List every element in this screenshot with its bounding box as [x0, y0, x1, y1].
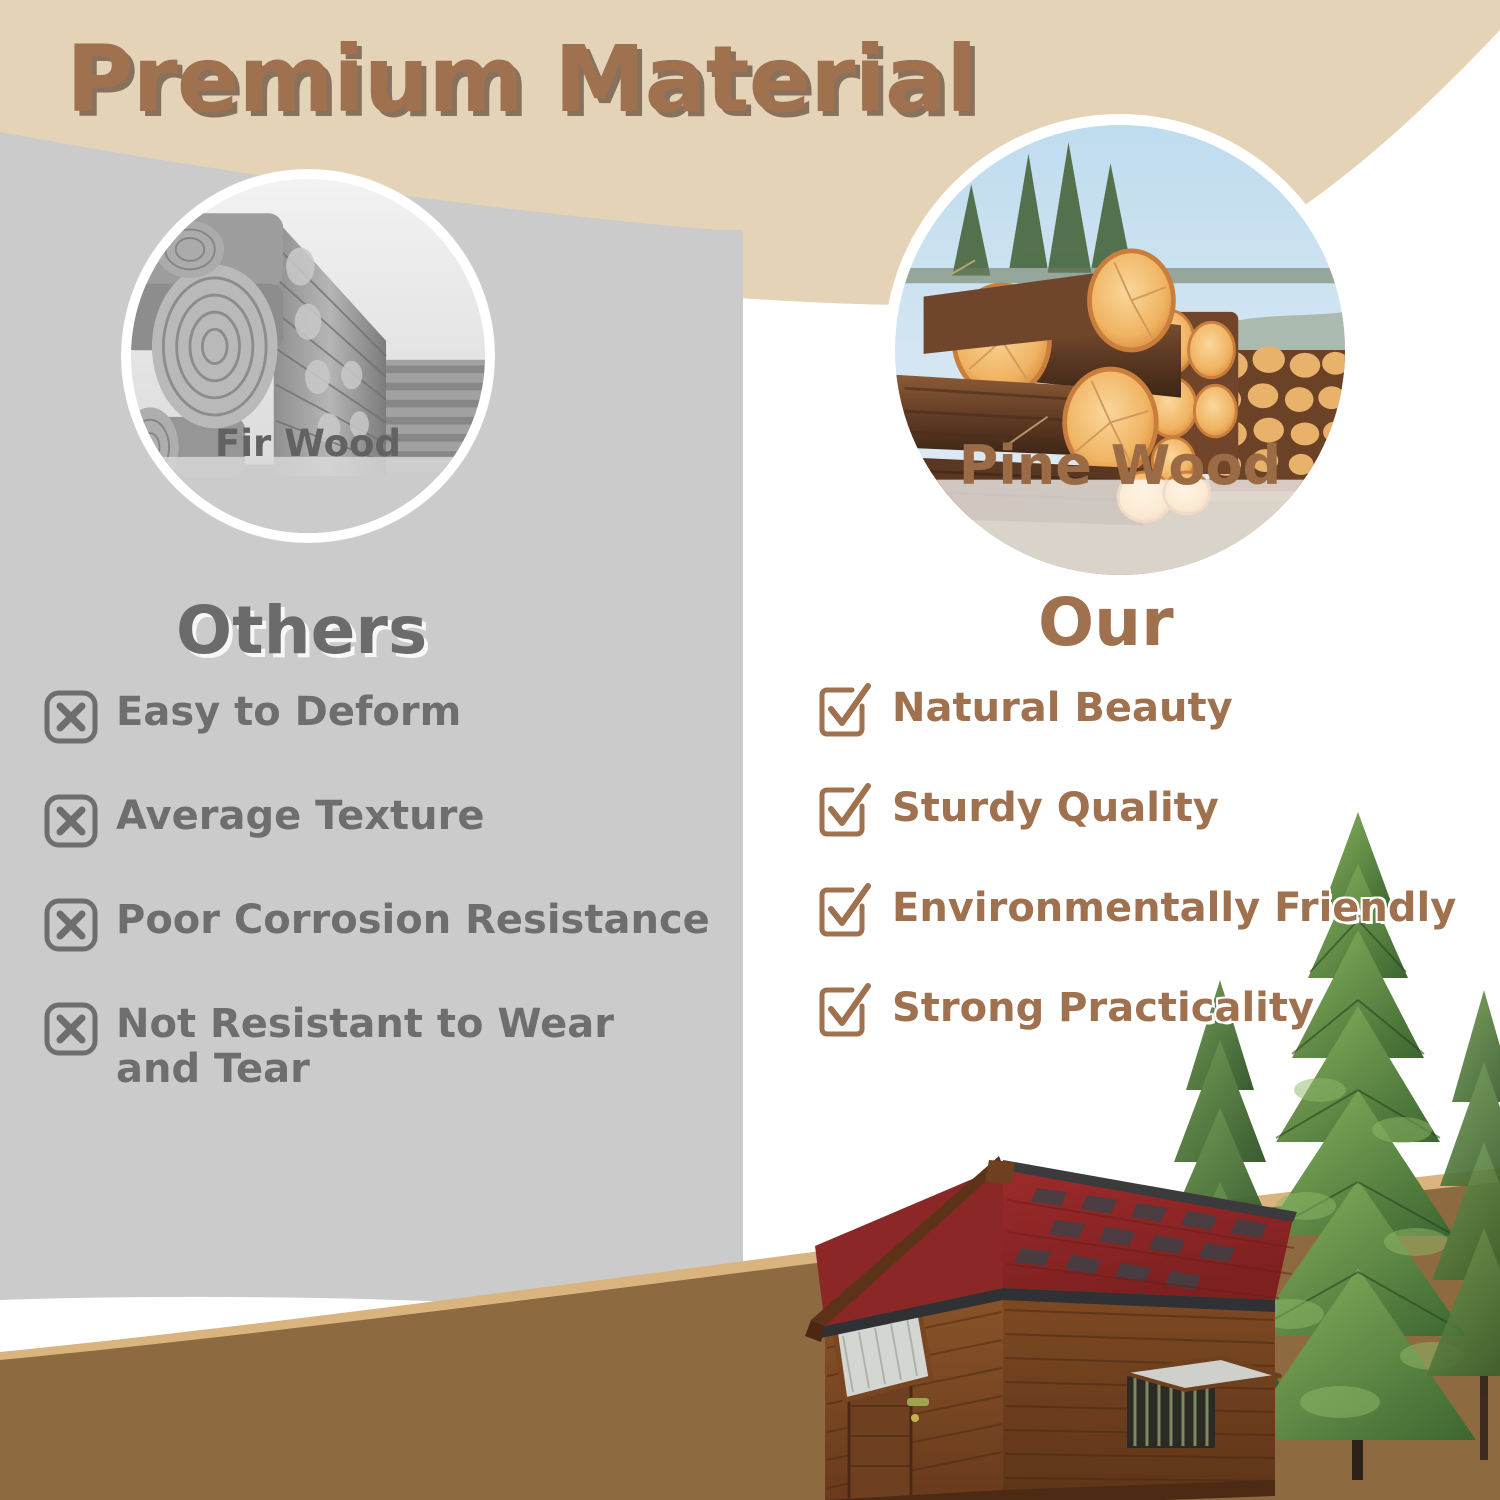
list-item: Not Resistant to Wear and Tear: [44, 1002, 744, 1092]
pine-wood-circle: Pine Wood: [884, 114, 1356, 586]
list-item-label: Easy to Deform: [116, 690, 461, 735]
list-item-label: Strong Practicality: [892, 986, 1314, 1031]
list-item: Natural Beauty: [818, 686, 1498, 736]
list-item: Easy to Deform: [44, 690, 744, 744]
pine-wood-caption: Pine Wood: [895, 434, 1345, 497]
check-mark-icon: [818, 982, 872, 1036]
list-item-label: Sturdy Quality: [892, 786, 1219, 831]
page-title: Premium Material: [66, 26, 977, 133]
check-mark-icon: [818, 782, 872, 836]
list-item: Average Texture: [44, 794, 744, 848]
our-feature-list: Natural Beauty Sturdy Quality Environmen…: [818, 686, 1498, 1086]
infographic-canvas: Premium Material: [0, 0, 1500, 1500]
list-item-label: Average Texture: [116, 794, 485, 839]
grayscale-logs-image: [131, 179, 485, 533]
list-item-label: Natural Beauty: [892, 686, 1233, 731]
list-item-label: Not Resistant to Wear and Tear: [116, 1002, 676, 1092]
others-feature-list: Easy to Deform Average Texture Poor: [44, 690, 744, 1142]
fir-wood-caption: Fir Wood: [131, 422, 485, 465]
list-item: Poor Corrosion Resistance: [44, 898, 744, 952]
check-mark-icon: [818, 882, 872, 936]
others-heading: Others: [176, 592, 427, 669]
fir-wood-circle: Fir Wood: [122, 170, 494, 542]
list-item-label: Poor Corrosion Resistance: [116, 898, 710, 943]
x-mark-icon: [44, 898, 98, 952]
list-item: Environmentally Friendly: [818, 886, 1498, 936]
our-heading: Our: [1038, 584, 1174, 661]
check-mark-icon: [818, 682, 872, 736]
wooden-dog-house-photo: [775, 1140, 1320, 1500]
list-item-label: Environmentally Friendly: [892, 886, 1456, 931]
x-mark-icon: [44, 794, 98, 848]
list-item: Sturdy Quality: [818, 786, 1498, 836]
color-pine-logs-image: [895, 125, 1345, 575]
x-mark-icon: [44, 690, 98, 744]
x-mark-icon: [44, 1002, 98, 1056]
list-item: Strong Practicality: [818, 986, 1498, 1036]
